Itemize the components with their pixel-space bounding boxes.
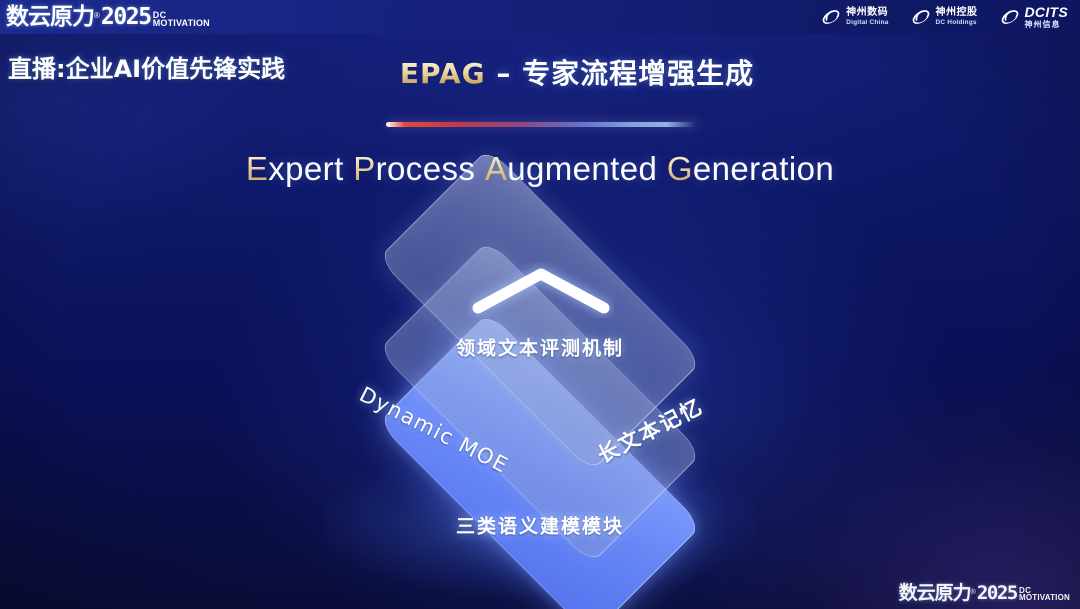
diagram-label-top: 领域文本评测机制: [456, 334, 624, 361]
swirl-logo-icon: [1000, 7, 1020, 27]
subtitle-space-1: [344, 150, 354, 187]
watermark-motivation: MOTIVATION: [1019, 594, 1070, 602]
brand-year: 2025: [101, 6, 151, 29]
diagram-label-bottom: 三类语义建模模块: [456, 512, 624, 539]
watermark-name-cn: 数云原力: [899, 584, 971, 603]
layered-architecture-diagram: 领域文本评测机制 Dynamic MOE 长文本记忆 三类语义建模模块: [282, 226, 798, 578]
chevron-up-icon: [468, 262, 614, 318]
brand-tagline: DC MOTIVATION: [153, 11, 210, 28]
subtitle-space-3: [657, 150, 667, 187]
registered-mark: ®: [94, 12, 100, 20]
swirl-logo-icon: [911, 7, 931, 27]
subtitle-rest-process: rocess: [376, 150, 476, 187]
watermark-tagline: DC MOTIVATION: [1019, 587, 1070, 602]
title-divider: [386, 122, 698, 127]
page-title-rest: – 专家流程增强生成: [486, 57, 755, 90]
page-title-accent: EPAG: [400, 57, 486, 90]
brand-logo: 数云原力 ® 2025 DC MOTIVATION: [6, 6, 210, 29]
subtitle-rest-augmented: ugmented: [507, 150, 657, 187]
subtitle-rest-generation: eneration: [693, 150, 834, 187]
page-subtitle: Expert Process Augmented Generation: [0, 150, 1080, 188]
logo-name-en: DC Holdings: [936, 20, 978, 27]
logo-dcits: DCITS 神州信息: [1000, 5, 1069, 29]
top-brand-bar: 数云原力 ® 2025 DC MOTIVATION 神州数码 Digital C…: [0, 0, 1080, 34]
corner-watermark: 数云原力 ® 2025 DC MOTIVATION: [899, 584, 1070, 603]
watermark-registered-mark: ®: [971, 589, 976, 596]
logo-digital-china: 神州数码 Digital China: [821, 7, 888, 27]
page-title: EPAG – 专家流程增强生成: [0, 52, 1080, 92]
watermark-year: 2025: [977, 584, 1017, 603]
logo-dc-holdings: 神州控股 DC Holdings: [911, 7, 978, 27]
logo-name-en: Digital China: [846, 20, 888, 27]
logo-name-en: DCITS: [1025, 5, 1069, 19]
brand-motivation: MOTIVATION: [153, 19, 210, 28]
subtitle-cap-e: E: [246, 150, 268, 187]
logo-text: 神州数码 Digital China: [846, 8, 888, 27]
logo-name-cn: 神州信息: [1025, 21, 1069, 29]
partner-logo-group: 神州数码 Digital China 神州控股 DC Holdings: [821, 5, 1072, 29]
swirl-logo-icon: [821, 7, 841, 27]
logo-text: DCITS 神州信息: [1025, 5, 1069, 29]
subtitle-cap-p: P: [353, 150, 375, 187]
logo-text: 神州控股 DC Holdings: [936, 8, 978, 27]
logo-name-cn: 神州数码: [846, 8, 888, 18]
subtitle-space-2: [475, 150, 485, 187]
subtitle-cap-g: G: [667, 150, 693, 187]
subtitle-cap-a: A: [485, 150, 507, 187]
slide-canvas: 数云原力 ® 2025 DC MOTIVATION 神州数码 Digital C…: [0, 0, 1080, 609]
brand-name-cn: 数云原力: [6, 6, 94, 29]
logo-name-cn: 神州控股: [936, 8, 978, 18]
subtitle-rest-expert: xpert: [268, 150, 343, 187]
